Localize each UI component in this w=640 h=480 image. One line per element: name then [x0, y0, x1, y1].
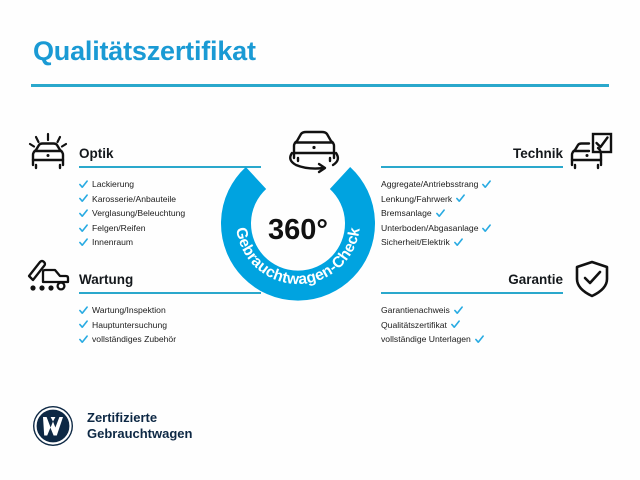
- check-icon: [475, 335, 484, 344]
- vw-logo: [31, 404, 75, 448]
- list-item-label: Hauptuntersuchung: [92, 318, 167, 333]
- car-360-rotation-icon: [278, 124, 350, 174]
- list-item-label: Wartung/Inspektion: [92, 303, 166, 318]
- list-item: Lenkung/Fahrwerk: [381, 192, 563, 207]
- header-divider: [31, 84, 609, 87]
- car-polish-icon: [25, 131, 71, 171]
- list-item-label: vollständige Unterlagen: [381, 332, 471, 347]
- car-checkbox-icon: [568, 131, 614, 171]
- check-icon: [456, 194, 465, 203]
- section-divider-technik: [381, 166, 563, 168]
- section-technik: Technik Aggregate/Antriebsstrang Lenkung…: [381, 146, 563, 266]
- check-icon: [454, 306, 463, 315]
- list-item: Bremsanlage: [381, 206, 563, 221]
- checklist-garantie: Garantienachweis Qualitätszertifikat vol…: [381, 303, 563, 347]
- page-title: Qualitätszertifikat: [33, 36, 256, 67]
- list-item-label: Felgen/Reifen: [92, 221, 146, 236]
- check-icon: [454, 238, 463, 247]
- check-icon: [79, 335, 88, 344]
- list-item-label: Qualitätszertifikat: [381, 318, 447, 333]
- list-item-label: Verglasung/Beleuchtung: [92, 206, 185, 221]
- shield-check-icon: [572, 259, 618, 299]
- check-icon: [436, 209, 445, 218]
- check-icon: [79, 306, 88, 315]
- vw-footer-logo: Zertifizierte Gebrauchtwagen: [31, 404, 192, 448]
- section-garantie: Garantie Garantienachweis Qualitätszerti…: [381, 272, 563, 363]
- vw-footer-line2: Gebrauchtwagen: [87, 426, 192, 441]
- check-icon: [79, 209, 88, 218]
- list-item: Hauptuntersuchung: [79, 318, 261, 333]
- certificate-page: Qualitätszertifikat Optik: [0, 0, 640, 480]
- list-item-label: Unterboden/Abgasanlage: [381, 221, 478, 236]
- check-icon: [79, 224, 88, 233]
- vw-footer-line1: Zertifizierte: [87, 410, 157, 425]
- section-divider-garantie: [381, 292, 563, 294]
- check-icon: [79, 238, 88, 247]
- list-item-label: Lenkung/Fahrwerk: [381, 192, 452, 207]
- list-item-label: Garantienachweis: [381, 303, 450, 318]
- check-icon: [79, 320, 88, 329]
- list-item-label: Lackierung: [92, 177, 134, 192]
- section-heading-garantie: Garantie: [381, 272, 563, 288]
- checklist-technik: Aggregate/Antriebsstrang Lenkung/Fahrwer…: [381, 177, 563, 250]
- list-item: vollständiges Zubehör: [79, 332, 261, 347]
- check-icon: [482, 180, 491, 189]
- vw-footer-text: Zertifizierte Gebrauchtwagen: [87, 410, 192, 442]
- list-item: vollständige Unterlagen: [381, 332, 563, 347]
- list-item: Unterboden/Abgasanlage: [381, 221, 563, 236]
- list-item-label: Bremsanlage: [381, 206, 432, 221]
- check-icon: [482, 224, 491, 233]
- check-icon: [79, 180, 88, 189]
- check-icon: [79, 194, 88, 203]
- list-item-label: Sicherheit/Elektrik: [381, 235, 450, 250]
- check-icon: [451, 320, 460, 329]
- list-item-label: Innenraum: [92, 235, 133, 250]
- section-heading-technik: Technik: [381, 146, 563, 162]
- list-item-label: Aggregate/Antriebsstrang: [381, 177, 478, 192]
- car-service-wrench-icon: [25, 256, 71, 296]
- list-item: Aggregate/Antriebsstrang: [381, 177, 563, 192]
- list-item: Garantienachweis: [381, 303, 563, 318]
- list-item: Qualitätszertifikat: [381, 318, 563, 333]
- list-item: Sicherheit/Elektrik: [381, 235, 563, 250]
- list-item-label: Karosserie/Anbauteile: [92, 192, 176, 207]
- list-item-label: vollständiges Zubehör: [92, 332, 176, 347]
